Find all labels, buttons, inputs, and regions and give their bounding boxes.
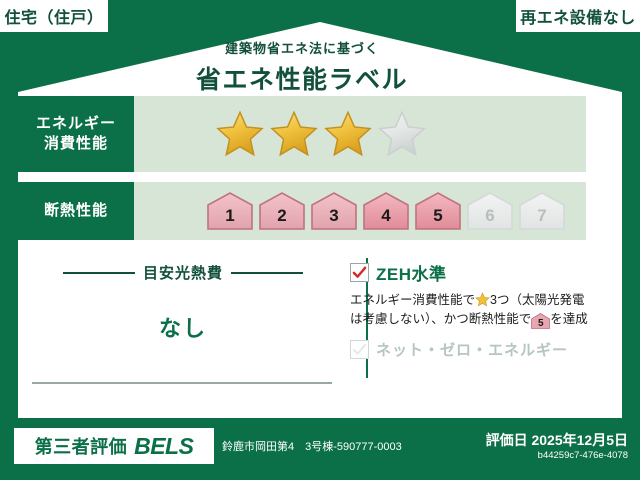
utility-cost-divider bbox=[32, 382, 332, 384]
insulation-level-badge-5: 5 bbox=[414, 191, 462, 231]
utility-cost-section: 目安光熱費 なし bbox=[18, 250, 348, 418]
zeh-section: ZEH水準 エネルギー消費性能で 3つ（太陽光発電 は考慮しない）、かつ断熱性能… bbox=[350, 250, 622, 360]
zeh-desc-part1: エネルギー消費性能で bbox=[350, 293, 475, 307]
heading-rule-right bbox=[231, 272, 303, 274]
label-title-block: 建築物省エネ法に基づく 省エネ性能ラベル bbox=[0, 38, 604, 96]
insulation-performance-label: 断熱性能 bbox=[18, 182, 134, 240]
net-zero-checkbox bbox=[350, 340, 369, 359]
building-type-badge: 住宅（住戸） bbox=[0, 0, 108, 32]
energy-label-line1: エネルギー bbox=[36, 114, 116, 134]
label-subtitle: 建築物省エネ法に基づく bbox=[0, 38, 604, 57]
energy-performance-row: エネルギー 消費性能 bbox=[18, 96, 586, 172]
star-rating bbox=[134, 109, 428, 159]
insulation-level-badge-6: 6 bbox=[466, 191, 514, 231]
evaluation-date: 評価日 2025年12月5日 bbox=[486, 430, 628, 450]
insulation-performance-value: 1234567 bbox=[134, 182, 586, 240]
net-zero-label: ネット・ゼロ・エネルギー bbox=[376, 339, 568, 360]
insulation-level-value: 6 bbox=[485, 206, 494, 226]
insulation-level-badge-1: 1 bbox=[206, 191, 254, 231]
insulation-level-badge-2: 2 bbox=[258, 191, 306, 231]
insulation-level-badge-3: 3 bbox=[310, 191, 358, 231]
star-filled-icon bbox=[322, 109, 374, 159]
insulation-level-value: 4 bbox=[381, 206, 390, 226]
zeh-desc-star-count: 3つ（太陽光発電 bbox=[490, 293, 584, 307]
footer-bar: 第三者評価 BELS 鈴鹿市岡田第4 3号棟-590777-0003 評価日 2… bbox=[0, 424, 640, 480]
insulation-level-value: 5 bbox=[433, 206, 442, 226]
insulation-level-value: 2 bbox=[277, 206, 286, 226]
insulation-performance-row: 断熱性能 1234567 bbox=[18, 182, 586, 240]
star-filled-icon bbox=[268, 109, 320, 159]
utility-cost-heading: 目安光熱費 bbox=[18, 262, 348, 283]
star-empty-icon bbox=[376, 109, 428, 159]
insulation-level-value: 1 bbox=[225, 206, 234, 226]
renewable-equipment-badge: 再エネ設備なし bbox=[516, 0, 640, 32]
energy-label-line2: 消費性能 bbox=[44, 134, 108, 154]
insulation-level-scale: 1234567 bbox=[134, 191, 566, 231]
heading-rule-left bbox=[63, 272, 135, 274]
inline-insulation-badge: 5 bbox=[531, 313, 550, 329]
inline-badge-value: 5 bbox=[538, 318, 544, 329]
bels-en-text: BELS bbox=[134, 433, 193, 460]
net-zero-energy-row: ネット・ゼロ・エネルギー bbox=[350, 339, 622, 360]
inline-star-icon bbox=[475, 292, 490, 307]
energy-performance-value bbox=[134, 96, 586, 172]
energy-performance-label: エネルギー 消費性能 bbox=[18, 96, 134, 172]
check-icon-faded bbox=[352, 342, 367, 357]
check-icon bbox=[352, 265, 367, 280]
bels-jp-text: 第三者評価 bbox=[35, 433, 128, 459]
insulation-level-value: 3 bbox=[329, 206, 338, 226]
zeh-description: エネルギー消費性能で 3つ（太陽光発電 は考慮しない）、かつ断熱性能で 5 を達… bbox=[350, 291, 618, 330]
zeh-title: ZEH水準 bbox=[376, 260, 447, 285]
insulation-level-badge-7: 7 bbox=[518, 191, 566, 231]
star-filled-icon bbox=[214, 109, 266, 159]
utility-cost-heading-text: 目安光熱費 bbox=[143, 262, 223, 283]
zeh-heading: ZEH水準 bbox=[350, 260, 622, 285]
zeh-desc-part3: を達成 bbox=[550, 312, 588, 326]
utility-cost-value: なし bbox=[18, 311, 348, 343]
energy-label-card: 住宅（住戸） 再エネ設備なし 建築物省エネ法に基づく 省エネ性能ラベル エネルギ… bbox=[0, 0, 640, 480]
property-address: 鈴鹿市岡田第4 3号棟-590777-0003 bbox=[222, 438, 402, 454]
insulation-level-value: 7 bbox=[537, 206, 546, 226]
insulation-label-text: 断熱性能 bbox=[44, 201, 108, 221]
lower-section: 目安光熱費 なし ZEH水準 エネルギー消費性能で 3つ（太陽光発電 は bbox=[18, 250, 622, 418]
zeh-checkbox bbox=[350, 263, 369, 282]
bels-logo: 第三者評価 BELS bbox=[14, 428, 214, 464]
document-id: b44259c7-476e-4078 bbox=[538, 450, 628, 461]
page-title: 省エネ性能ラベル bbox=[0, 60, 604, 96]
insulation-level-badge-4: 4 bbox=[362, 191, 410, 231]
zeh-desc-part2: は考慮しない）、かつ断熱性能で bbox=[350, 312, 531, 326]
